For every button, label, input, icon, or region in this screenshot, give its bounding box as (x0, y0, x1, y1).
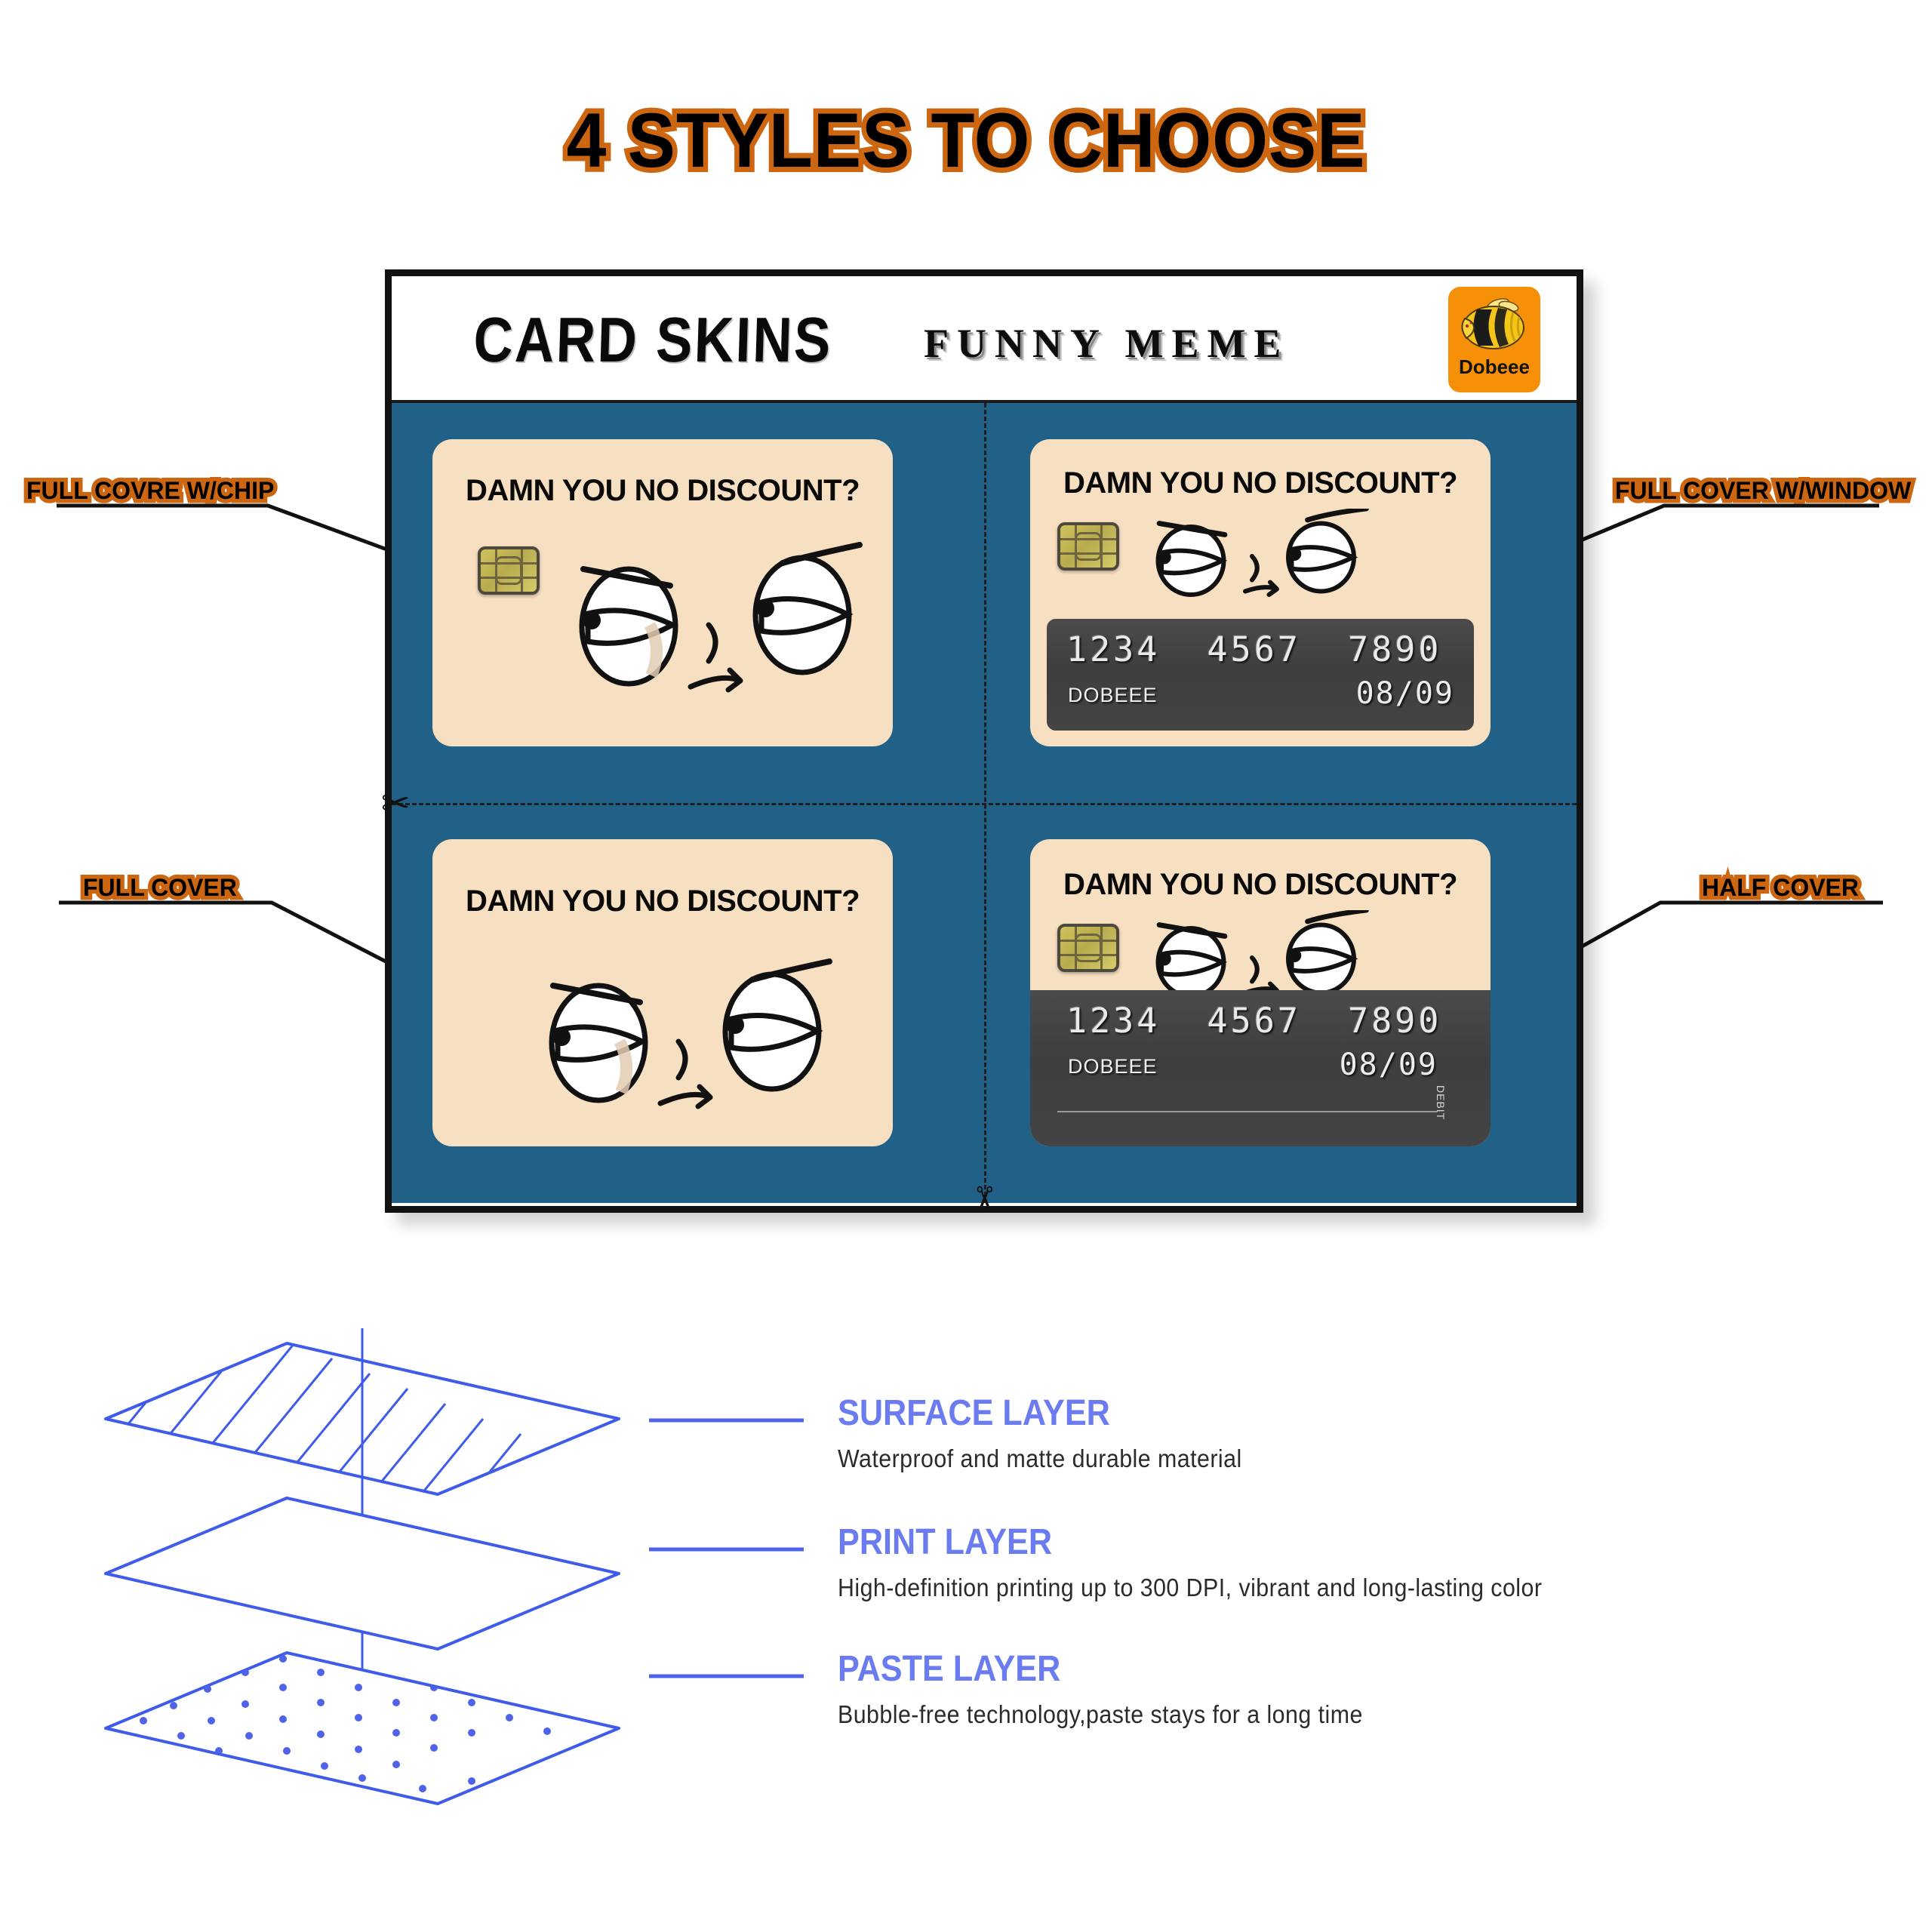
layers-diagram (91, 1328, 664, 1826)
card-holder: DOBEEE (1068, 684, 1158, 707)
angry-eyes-icon (1134, 509, 1383, 599)
layer-description: High-definition printing up to 300 DPI, … (838, 1574, 1542, 1602)
card-preview-full-covre-w-chip[interactable]: DAMN YOU NO DISCOUNT? (432, 439, 893, 746)
emv-chip-icon (1057, 522, 1119, 571)
emv-chip-icon (478, 546, 540, 595)
sheet-body: ✂ ✂ DAMN YOU NO DISCOUNT? (392, 403, 1577, 1203)
card-skin-sheet: CARD SKINS FUNNY MEME (385, 269, 1583, 1213)
brand-title: CARD SKINS (472, 303, 833, 377)
signature-line (1057, 1111, 1438, 1112)
card-expiry: 08/09 (1356, 676, 1454, 711)
card-meme-text: DAMN YOU NO DISCOUNT? (1030, 868, 1491, 902)
card-meme-text: DAMN YOU NO DISCOUNT? (432, 474, 893, 508)
layer-info-print: PRINT LAYER High-definition printing up … (838, 1521, 1604, 1602)
card-meme-text: DAMN YOU NO DISCOUNT? (432, 884, 893, 918)
angry-eyes-icon (531, 952, 848, 1126)
callout-half-cover: HALF COVER (1702, 874, 1859, 902)
sheet-header: CARD SKINS FUNNY MEME (392, 276, 1577, 403)
card-number: 1234 4567 7890 1234 (1066, 629, 1491, 669)
card-number: 1234 4567 7890 1234 (1066, 1001, 1491, 1041)
print-layer-shape (106, 1498, 619, 1649)
scissors-icon-left: ✂ (381, 786, 411, 820)
card-meme-text: DAMN YOU NO DISCOUNT? (1030, 466, 1491, 500)
card-preview-full-cover[interactable]: DAMN YOU NO DISCOUNT? (432, 839, 893, 1146)
layer-info-paste: PASTE LAYER Bubble-free technology,paste… (838, 1648, 1408, 1729)
card-number-strip: 1234 4567 7890 1234 DOBEEE 08/09 DEBIT (1030, 990, 1491, 1146)
card-holder: DOBEEE (1068, 1055, 1158, 1078)
angry-eyes-icon (561, 536, 878, 709)
callout-full-covre-w-chip: FULL COVRE W/CHIP (26, 477, 274, 505)
card-number-strip: 1234 4567 7890 1234 DOBEEE 08/09 (1047, 619, 1474, 731)
series-title: FUNNY MEME (924, 320, 1289, 367)
layer-heading: SURFACE LAYER (838, 1392, 1233, 1434)
layer-info-surface: SURFACE LAYER Waterproof and matte durab… (838, 1392, 1277, 1473)
angry-eyes-icon (1134, 910, 1383, 1001)
emv-chip-icon (1057, 924, 1119, 972)
debit-label: DEBIT (1435, 1085, 1447, 1120)
layer-description: Bubble-free technology,paste stays for a… (838, 1700, 1363, 1729)
layer-heading: PRINT LAYER (838, 1521, 1527, 1563)
logo-label: Dobeee (1448, 355, 1540, 379)
layer-description: Waterproof and matte durable material (838, 1444, 1242, 1473)
callout-full-cover: FULL COVER (83, 874, 237, 902)
card-expiry: 08/09 (1340, 1048, 1438, 1082)
card-preview-half-cover[interactable]: DAMN YOU NO DISCOUNT? 12 (1030, 839, 1491, 1146)
cut-guide-horizontal (392, 803, 1577, 805)
layer-heading: PASTE LAYER (838, 1648, 1352, 1690)
scissors-icon-bottom: ✂ (967, 1185, 1001, 1214)
callout-full-cover-w-window: FULL COVER W/WINDOW (1615, 477, 1911, 505)
page-title: 4 STYLES TO CHOOSE (68, 97, 1865, 185)
card-preview-full-cover-w-window[interactable]: DAMN YOU NO DISCOUNT? 12 (1030, 439, 1491, 746)
dobeee-logo: Dobeee (1448, 287, 1540, 392)
